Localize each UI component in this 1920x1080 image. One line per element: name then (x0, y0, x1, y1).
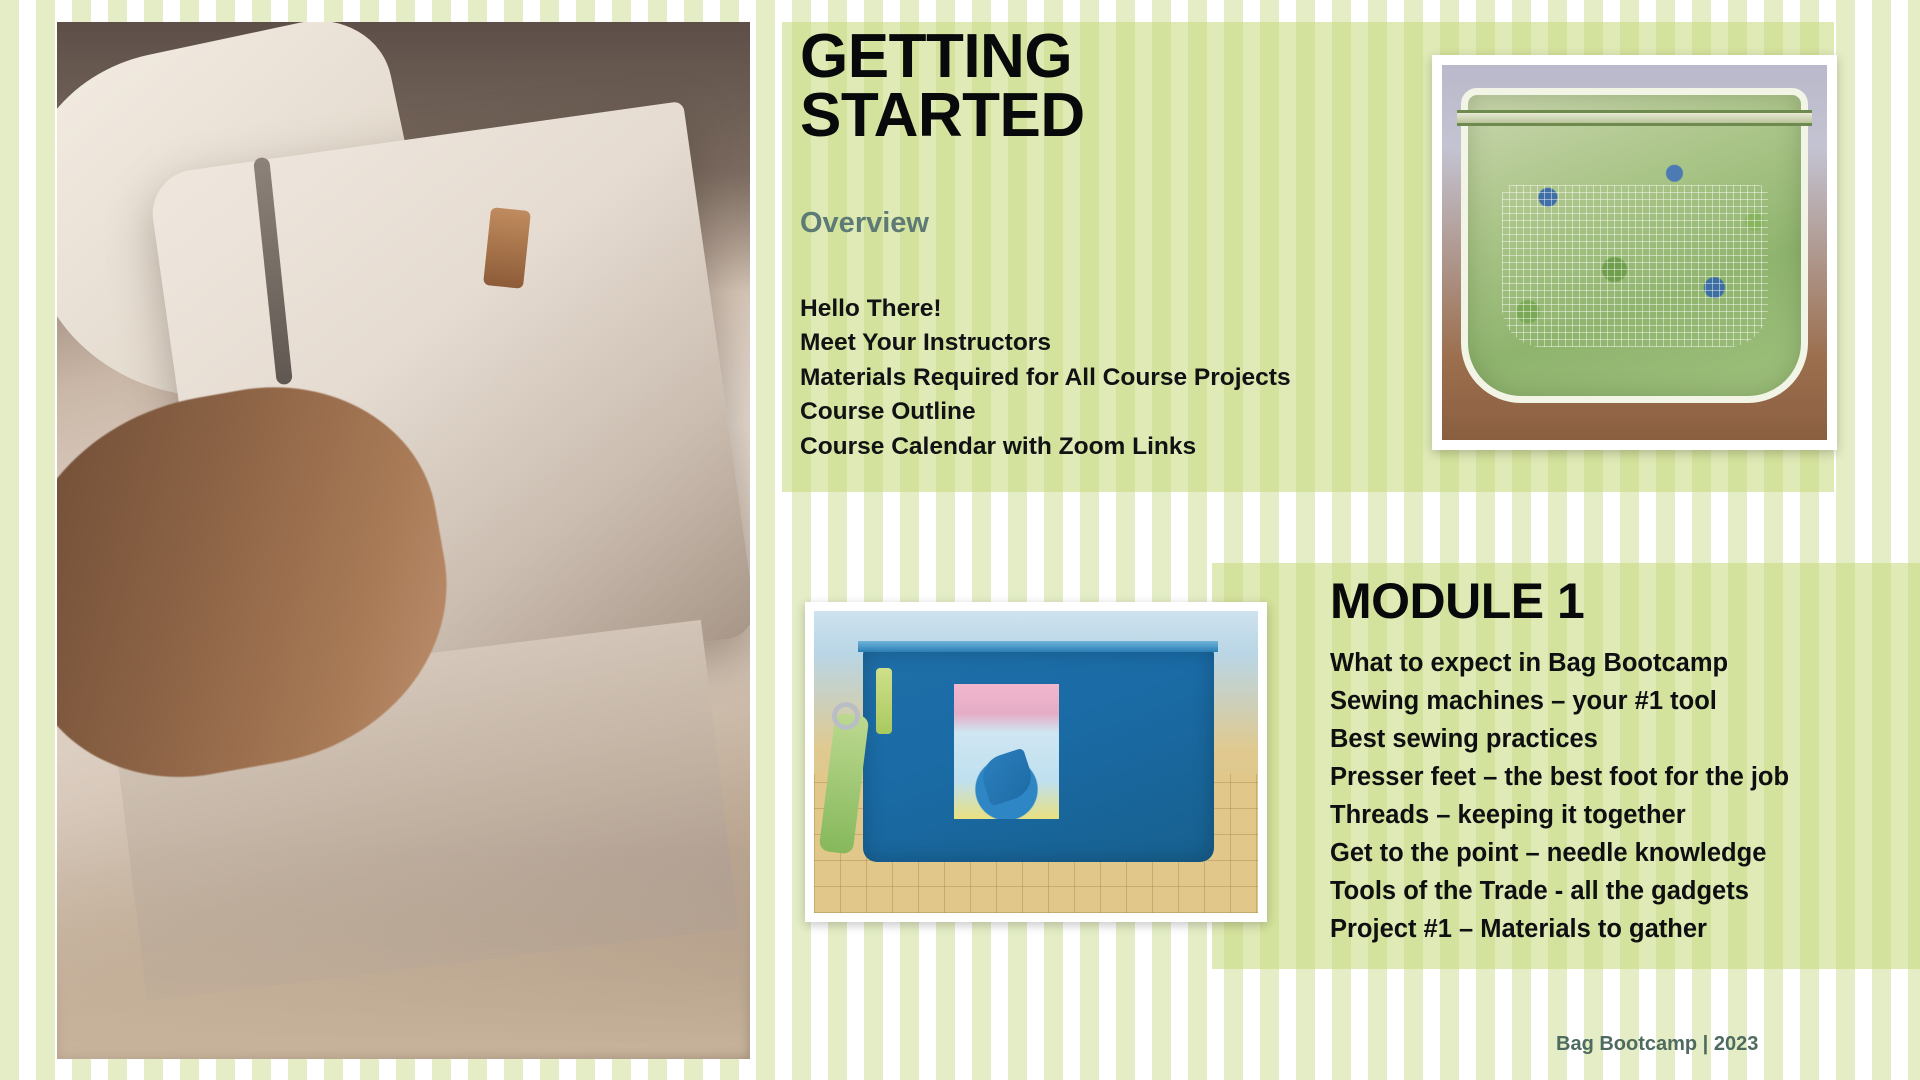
module-list: What to expect in Bag Bootcamp Sewing ma… (1330, 645, 1920, 949)
slide-footer: Bag Bootcamp | 2023 (1556, 1033, 1758, 1056)
overview-list: Hello There! Meet Your Instructors Mater… (800, 292, 1500, 464)
list-item: Tools of the Trade - all the gadgets (1330, 873, 1920, 911)
pouch-body-shape (1461, 88, 1808, 403)
pouch-mesh-shape (1502, 185, 1768, 348)
page-title: GETTING STARTED (800, 28, 1360, 146)
list-item: Course Calendar with Zoom Links (800, 430, 1500, 464)
tassel-shape (876, 668, 892, 734)
list-item: Best sewing practices (1330, 721, 1920, 759)
sewing-machine-photo (57, 22, 750, 1059)
module-title: MODULE 1 (1330, 572, 1584, 630)
list-item: Project #1 – Materials to gather (1330, 911, 1920, 949)
slide-canvas: GETTING STARTED Overview Hello There! Me… (0, 0, 1920, 1080)
list-item: Course Outline (800, 395, 1500, 429)
bluebag-photo-inner (814, 611, 1258, 913)
d-ring-shape (832, 702, 860, 730)
bluebag-zipper-shape (858, 641, 1218, 652)
hummingbird-patch-shape (954, 684, 1059, 819)
blue-quilted-bag-photo (805, 602, 1267, 922)
section-subtitle: Overview (800, 207, 929, 240)
thread-spool-shape (483, 207, 531, 289)
list-item: Sewing machines – your #1 tool (1330, 683, 1920, 721)
list-item: Presser feet – the best foot for the job (1330, 759, 1920, 797)
list-item: Materials Required for All Course Projec… (800, 361, 1500, 395)
pouch-zipper-shape (1457, 110, 1811, 126)
list-item: Threads – keeping it together (1330, 797, 1920, 835)
list-item: What to expect in Bag Bootcamp (1330, 645, 1920, 683)
list-item: Hello There! (800, 292, 1500, 326)
list-item: Get to the point – needle knowledge (1330, 835, 1920, 873)
bluebag-body-shape (863, 650, 1214, 861)
list-item: Meet Your Instructors (800, 326, 1500, 360)
photo-bottom-blur (57, 852, 750, 1059)
